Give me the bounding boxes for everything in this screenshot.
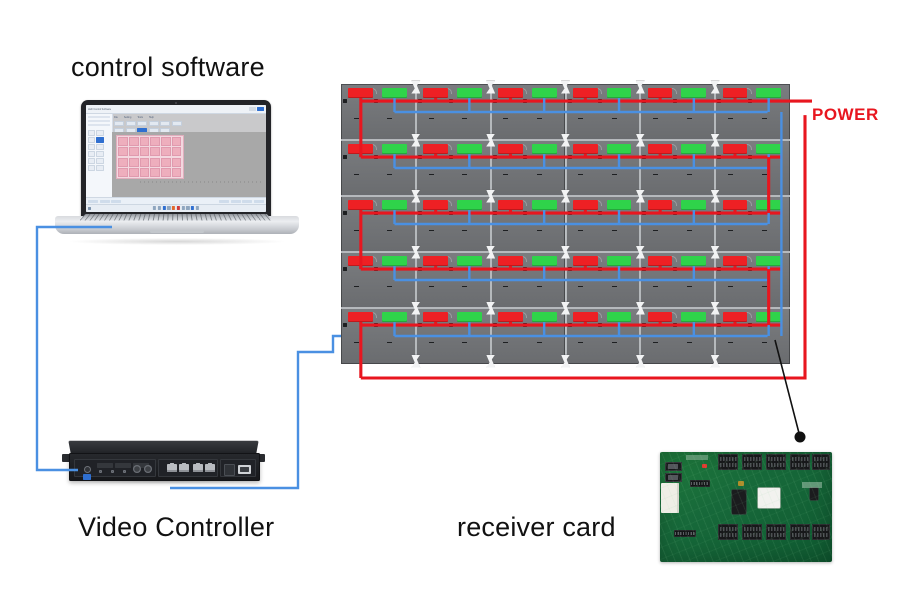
toolbar-row-1[interactable]	[114, 121, 264, 126]
panel-cell[interactable]	[140, 168, 150, 177]
maximize-icon[interactable]	[257, 107, 264, 111]
panel-cell[interactable]	[161, 168, 171, 177]
cabinet-bolt	[418, 99, 422, 103]
sidebar-button[interactable]	[96, 151, 103, 157]
seam-tick	[387, 286, 392, 288]
taskbar-icons[interactable]	[153, 206, 199, 210]
seam-tick	[728, 230, 733, 232]
keyboard-keys	[80, 214, 273, 221]
toolbar-button[interactable]	[149, 121, 159, 126]
cabinet-bolt	[343, 323, 347, 327]
panel-cell[interactable]	[118, 137, 128, 146]
sidebar-button[interactable]	[96, 165, 103, 171]
sidebar-button[interactable]	[96, 144, 103, 150]
hub-connector[interactable]	[718, 454, 738, 470]
app-title: LED Control Software	[88, 107, 111, 112]
taskbar-app-icon[interactable]	[158, 206, 161, 210]
seam-tick	[653, 342, 658, 344]
hub-connector[interactable]	[790, 454, 810, 470]
rj45-in-port[interactable]	[665, 462, 682, 471]
sidebar-button[interactable]	[88, 165, 95, 171]
led-module-green	[382, 256, 407, 266]
taskbar-app-icon[interactable]	[177, 206, 180, 210]
cabinet-bolt	[642, 155, 646, 159]
sidebar-button[interactable]	[88, 151, 95, 157]
led-module-red	[498, 88, 523, 98]
panel-cell[interactable]	[150, 147, 160, 156]
rj45-out-port[interactable]	[665, 473, 682, 482]
cabinet-bolt	[748, 267, 752, 271]
led-module-red	[573, 200, 598, 210]
cabinet-bolt	[598, 211, 602, 215]
hub-connector[interactable]	[742, 524, 762, 540]
menu-item-tools[interactable]: Tools	[137, 116, 143, 119]
led-cabinet[interactable]	[715, 140, 790, 196]
taskbar-app-icon[interactable]	[186, 206, 189, 210]
status-button[interactable]	[88, 200, 98, 204]
led-module-red	[498, 312, 523, 322]
laptop-shadow	[70, 238, 284, 245]
sidebar-button[interactable]	[88, 130, 95, 136]
led-module-green	[457, 256, 482, 266]
cabinet-bolt	[343, 211, 347, 215]
seam-tick	[612, 286, 617, 288]
status-led-indicator	[702, 464, 707, 468]
led-cabinet[interactable]	[715, 252, 790, 308]
power-switch[interactable]	[224, 464, 235, 476]
led-module-red	[573, 256, 598, 266]
led-cabinet[interactable]	[491, 252, 566, 308]
panel-cell[interactable]	[150, 137, 160, 146]
sidebar-button[interactable]	[88, 158, 95, 164]
seam-tick	[728, 342, 733, 344]
led-module-red	[573, 144, 598, 154]
led-cabinet[interactable]	[566, 308, 641, 364]
menu-item-setting[interactable]: Setting	[124, 116, 131, 119]
led-cabinet[interactable]	[566, 140, 641, 196]
panel-cell[interactable]	[129, 168, 139, 177]
panel-cell[interactable]	[150, 168, 160, 177]
panel-cell[interactable]	[118, 147, 128, 156]
cabinet-bolt	[748, 323, 752, 327]
taskbar-app-icon[interactable]	[153, 206, 156, 210]
seam-tick	[612, 118, 617, 120]
panel-cell[interactable]	[118, 168, 128, 177]
seam-tick	[612, 342, 617, 344]
app-menubar[interactable]: File Setting Tools Help	[114, 114, 264, 120]
led-module-red	[723, 88, 748, 98]
led-cabinet[interactable]	[640, 140, 715, 196]
laptop-screen: LED Control Software File Setting Tools …	[86, 105, 266, 212]
cabinet-bolt	[523, 99, 527, 103]
led-module-green	[681, 256, 706, 266]
led-module-red	[348, 312, 373, 322]
led-module-green	[607, 144, 632, 154]
cabinet-bolt	[598, 267, 602, 271]
canvas-ruler	[140, 181, 264, 183]
cabinet-bolt	[568, 267, 572, 271]
taskbar-app-icon[interactable]	[172, 206, 175, 210]
led-module-red	[348, 256, 373, 266]
sidebar-button[interactable]	[96, 130, 103, 136]
cabinet-bolt	[493, 155, 497, 159]
led-module-red	[498, 144, 523, 154]
sidebar-field	[88, 124, 110, 126]
status-buttons-left[interactable]	[88, 200, 121, 204]
led-module-green	[756, 88, 781, 98]
webcam-icon	[175, 102, 177, 104]
seam-tick	[429, 286, 434, 288]
led-module-green	[607, 88, 632, 98]
seam-tick	[762, 174, 767, 176]
toolbar-button[interactable]	[126, 121, 136, 126]
hub-connector[interactable]	[766, 454, 786, 470]
card-slot	[115, 463, 131, 468]
panel-cell[interactable]	[129, 147, 139, 156]
cabinet-bolt	[493, 211, 497, 215]
callout-dot	[795, 432, 806, 443]
cabinet-seam-vertical	[639, 84, 641, 364]
sidebar-field	[88, 116, 110, 118]
usb-control-port[interactable]	[83, 474, 91, 480]
panel-cell[interactable]	[129, 158, 139, 167]
cabinet-bolt	[568, 211, 572, 215]
status-buttons-right[interactable]	[219, 200, 264, 204]
pcb-board	[660, 452, 832, 562]
toolbar-button[interactable]	[160, 121, 170, 126]
cabinet-bolt	[673, 323, 677, 327]
cabinet-bolt	[642, 211, 646, 215]
panel-cell[interactable]	[118, 158, 128, 167]
taskbar-app-icon[interactable]	[182, 206, 185, 210]
receiver-card-pcb	[660, 452, 832, 562]
controller-output-bay[interactable]	[158, 459, 218, 477]
cabinet-bolt	[374, 267, 378, 271]
led-module-red	[348, 144, 373, 154]
led-cabinet[interactable]	[491, 196, 566, 252]
laptop-control-software: LED Control Software File Setting Tools …	[52, 100, 302, 252]
seam-tick	[503, 286, 508, 288]
led-module-green	[457, 144, 482, 154]
led-module-green	[532, 312, 557, 322]
panel-cell[interactable]	[140, 147, 150, 156]
seam-tick	[578, 230, 583, 232]
cabinet-bolt	[374, 211, 378, 215]
cabinet-bolt	[673, 267, 677, 271]
cabinet-bolt	[449, 99, 453, 103]
sidebar-button-selected[interactable]	[96, 137, 103, 143]
power-inlet[interactable]	[238, 465, 251, 474]
panel-layout-map[interactable]	[116, 135, 184, 179]
led-cabinet[interactable]	[416, 252, 491, 308]
led-cabinet[interactable]	[566, 84, 641, 140]
seam-tick	[429, 118, 434, 120]
ethernet-jack[interactable]	[661, 483, 679, 513]
seam-tick	[354, 230, 359, 232]
led-cabinet[interactable]	[640, 196, 715, 252]
seam-tick	[612, 174, 617, 176]
led-cabinet[interactable]	[341, 140, 416, 196]
panel-cell[interactable]	[150, 158, 160, 167]
status-button[interactable]	[219, 200, 229, 204]
led-module-red	[573, 312, 598, 322]
led-cabinet[interactable]	[715, 84, 790, 140]
panel-cell[interactable]	[161, 158, 171, 167]
led-cabinet[interactable]	[640, 252, 715, 308]
pin-header	[690, 480, 710, 487]
cabinet-seam-vertical	[565, 84, 567, 364]
cabinet-bolt	[717, 323, 721, 327]
seam-tick	[537, 230, 542, 232]
hub-connector[interactable]	[790, 524, 810, 540]
panel-cell[interactable]	[172, 147, 182, 156]
led-cabinet[interactable]	[715, 196, 790, 252]
cabinet-bolt	[568, 155, 572, 159]
hub-connector[interactable]	[766, 524, 786, 540]
led-cabinet[interactable]	[341, 308, 416, 364]
seam-tick	[653, 174, 658, 176]
cabinet-bolt	[642, 267, 646, 271]
cabinet-bolt	[717, 99, 721, 103]
led-module-green	[532, 256, 557, 266]
led-module-red	[648, 144, 673, 154]
window-buttons[interactable]	[249, 107, 265, 111]
app-toolbar[interactable]	[114, 121, 264, 131]
panel-cell[interactable]	[161, 137, 171, 146]
led-cabinet[interactable]	[640, 308, 715, 364]
seam-tick	[762, 342, 767, 344]
toolbar-button[interactable]	[114, 121, 124, 126]
hub-connector[interactable]	[812, 524, 830, 540]
led-module-green	[457, 88, 482, 98]
led-module-green	[607, 312, 632, 322]
led-wall-array	[341, 84, 790, 364]
app-titlebar: LED Control Software	[86, 105, 266, 114]
led-module-red	[648, 200, 673, 210]
seam-tick	[578, 342, 583, 344]
seam-tick	[429, 230, 434, 232]
diagram-canvas: control software Video Controller receiv…	[0, 0, 900, 600]
seam-tick	[387, 342, 392, 344]
seam-tick	[537, 286, 542, 288]
led-cabinet[interactable]	[341, 196, 416, 252]
cabinet-bolt	[493, 323, 497, 327]
led-module-red	[573, 88, 598, 98]
led-cabinet[interactable]	[341, 252, 416, 308]
hub-connector[interactable]	[742, 454, 762, 470]
seam-tick	[728, 118, 733, 120]
seam-tick	[429, 342, 434, 344]
label-power: POWER	[812, 105, 879, 125]
seam-tick	[578, 286, 583, 288]
seam-tick	[462, 230, 467, 232]
led-cabinet[interactable]	[566, 196, 641, 252]
cabinet-bolt	[523, 155, 527, 159]
seam-tick	[387, 174, 392, 176]
seam-tick	[354, 342, 359, 344]
laptop-keyboard	[80, 214, 273, 221]
rj45-port-2[interactable]	[179, 464, 189, 472]
seam-tick	[354, 286, 359, 288]
led-module-red	[498, 200, 523, 210]
led-module-red	[423, 256, 448, 266]
taskbar-app-icon[interactable]	[167, 206, 170, 210]
seam-tick	[462, 118, 467, 120]
controller-power-bay[interactable]	[220, 459, 256, 477]
led-cabinet[interactable]	[416, 308, 491, 364]
panel-cell[interactable]	[172, 168, 182, 177]
led-cabinet[interactable]	[491, 84, 566, 140]
led-cabinet[interactable]	[715, 308, 790, 364]
led-module-red	[423, 312, 448, 322]
status-button[interactable]	[242, 200, 252, 204]
card-slot	[97, 463, 113, 468]
os-taskbar[interactable]	[86, 204, 266, 212]
seam-tick	[354, 174, 359, 176]
menu-item-help[interactable]: Help	[149, 116, 154, 119]
cabinet-bolt	[568, 99, 572, 103]
cabinet-bolt	[418, 267, 422, 271]
cabinet-bolt	[449, 211, 453, 215]
sidebar-button[interactable]	[88, 144, 95, 150]
panel-cell[interactable]	[172, 137, 182, 146]
seam-tick	[687, 174, 692, 176]
toolbar-button[interactable]	[137, 121, 147, 126]
cabinet-bolt	[449, 323, 453, 327]
seam-tick	[537, 174, 542, 176]
taskbar-app-icon[interactable]	[162, 206, 165, 210]
bnc-port[interactable]	[133, 465, 141, 473]
led-cabinet[interactable]	[491, 308, 566, 364]
ic-chip	[732, 490, 746, 514]
seam-tick	[687, 286, 692, 288]
panel-cell[interactable]	[140, 137, 150, 146]
control-knob[interactable]	[84, 466, 91, 473]
seam-tick	[687, 342, 692, 344]
fpga-chip	[758, 488, 780, 508]
led-module-red	[348, 88, 373, 98]
cabinet-bolt	[374, 155, 378, 159]
cabinet-bolt	[673, 99, 677, 103]
led-cabinet[interactable]	[416, 84, 491, 140]
led-module-red	[723, 200, 748, 210]
hub-connector[interactable]	[812, 454, 830, 470]
cabinet-bolt	[717, 267, 721, 271]
status-button[interactable]	[100, 200, 110, 204]
sidebar-button-grid[interactable]	[86, 128, 112, 174]
cabinet-bolt	[673, 211, 677, 215]
silkscreen-marking	[686, 455, 708, 460]
rj45-port-1[interactable]	[167, 464, 177, 472]
cabinet-bolt	[673, 155, 677, 159]
panel-cell[interactable]	[129, 137, 139, 146]
app-canvas[interactable]	[112, 132, 266, 198]
seam-tick	[537, 118, 542, 120]
panel-cell[interactable]	[172, 158, 182, 167]
cabinet-bolt	[374, 99, 378, 103]
led-module-green	[681, 312, 706, 322]
cabinet-bolt	[717, 211, 721, 215]
led-module-green	[382, 200, 407, 210]
seam-tick	[653, 286, 658, 288]
led-module-green	[457, 312, 482, 322]
seam-tick	[503, 230, 508, 232]
led-module-green	[756, 144, 781, 154]
panel-cell[interactable]	[161, 147, 171, 156]
cabinet-bolt	[748, 211, 752, 215]
start-icon[interactable]	[88, 207, 91, 210]
app-sidebar[interactable]	[86, 114, 113, 198]
sidebar-button[interactable]	[96, 158, 103, 164]
led-cabinet[interactable]	[416, 140, 491, 196]
led-module-green	[681, 88, 706, 98]
toolbar-button[interactable]	[172, 121, 182, 126]
cabinet-bolt	[523, 267, 527, 271]
cabinet-bolt	[717, 155, 721, 159]
cabinet-bolt	[598, 155, 602, 159]
cabinet-bolt	[343, 99, 347, 103]
led-module-red	[723, 256, 748, 266]
panel-cell[interactable]	[140, 158, 150, 167]
cabinet-bolt	[493, 267, 497, 271]
sidebar-button[interactable]	[88, 137, 95, 143]
seam-tick	[762, 118, 767, 120]
led-module-red	[723, 312, 748, 322]
status-button[interactable]	[111, 200, 121, 204]
led-module-green	[457, 200, 482, 210]
led-module-green	[532, 144, 557, 154]
status-button[interactable]	[231, 200, 241, 204]
taskbar-app-icon[interactable]	[191, 206, 194, 210]
menu-item-file[interactable]: File	[114, 116, 118, 119]
seam-tick	[687, 118, 692, 120]
label-receiver-card: receiver card	[457, 512, 616, 543]
led-cabinet[interactable]	[566, 252, 641, 308]
led-cabinet[interactable]	[640, 84, 715, 140]
bnc-port[interactable]	[144, 465, 152, 473]
status-button[interactable]	[254, 200, 264, 204]
hub-connector[interactable]	[718, 524, 738, 540]
seam-tick	[429, 174, 434, 176]
led-module-red	[648, 88, 673, 98]
cabinet-bolt	[748, 99, 752, 103]
cabinet-seam-vertical	[490, 84, 492, 364]
cabinet-bolt	[598, 323, 602, 327]
led-module-red	[423, 200, 448, 210]
cabinet-bolt	[523, 211, 527, 215]
led-module-green	[756, 200, 781, 210]
label-control-software: control software	[71, 52, 265, 83]
rj45-port-4[interactable]	[205, 464, 215, 472]
minimize-icon[interactable]	[249, 107, 256, 111]
seam-tick	[728, 286, 733, 288]
cabinet-bolt	[343, 267, 347, 271]
ic-chip	[810, 488, 818, 500]
status-led	[123, 470, 126, 473]
led-module-green	[607, 200, 632, 210]
led-cabinet[interactable]	[491, 140, 566, 196]
led-module-green	[681, 144, 706, 154]
taskbar-app-icon[interactable]	[196, 206, 199, 210]
led-module-red	[723, 144, 748, 154]
cabinet-bolt	[418, 155, 422, 159]
led-cabinet[interactable]	[341, 84, 416, 140]
silkscreen-marking	[802, 482, 822, 488]
rj45-port-3[interactable]	[193, 464, 203, 472]
seam-tick	[728, 174, 733, 176]
seam-tick	[537, 342, 542, 344]
led-cabinet[interactable]	[416, 196, 491, 252]
